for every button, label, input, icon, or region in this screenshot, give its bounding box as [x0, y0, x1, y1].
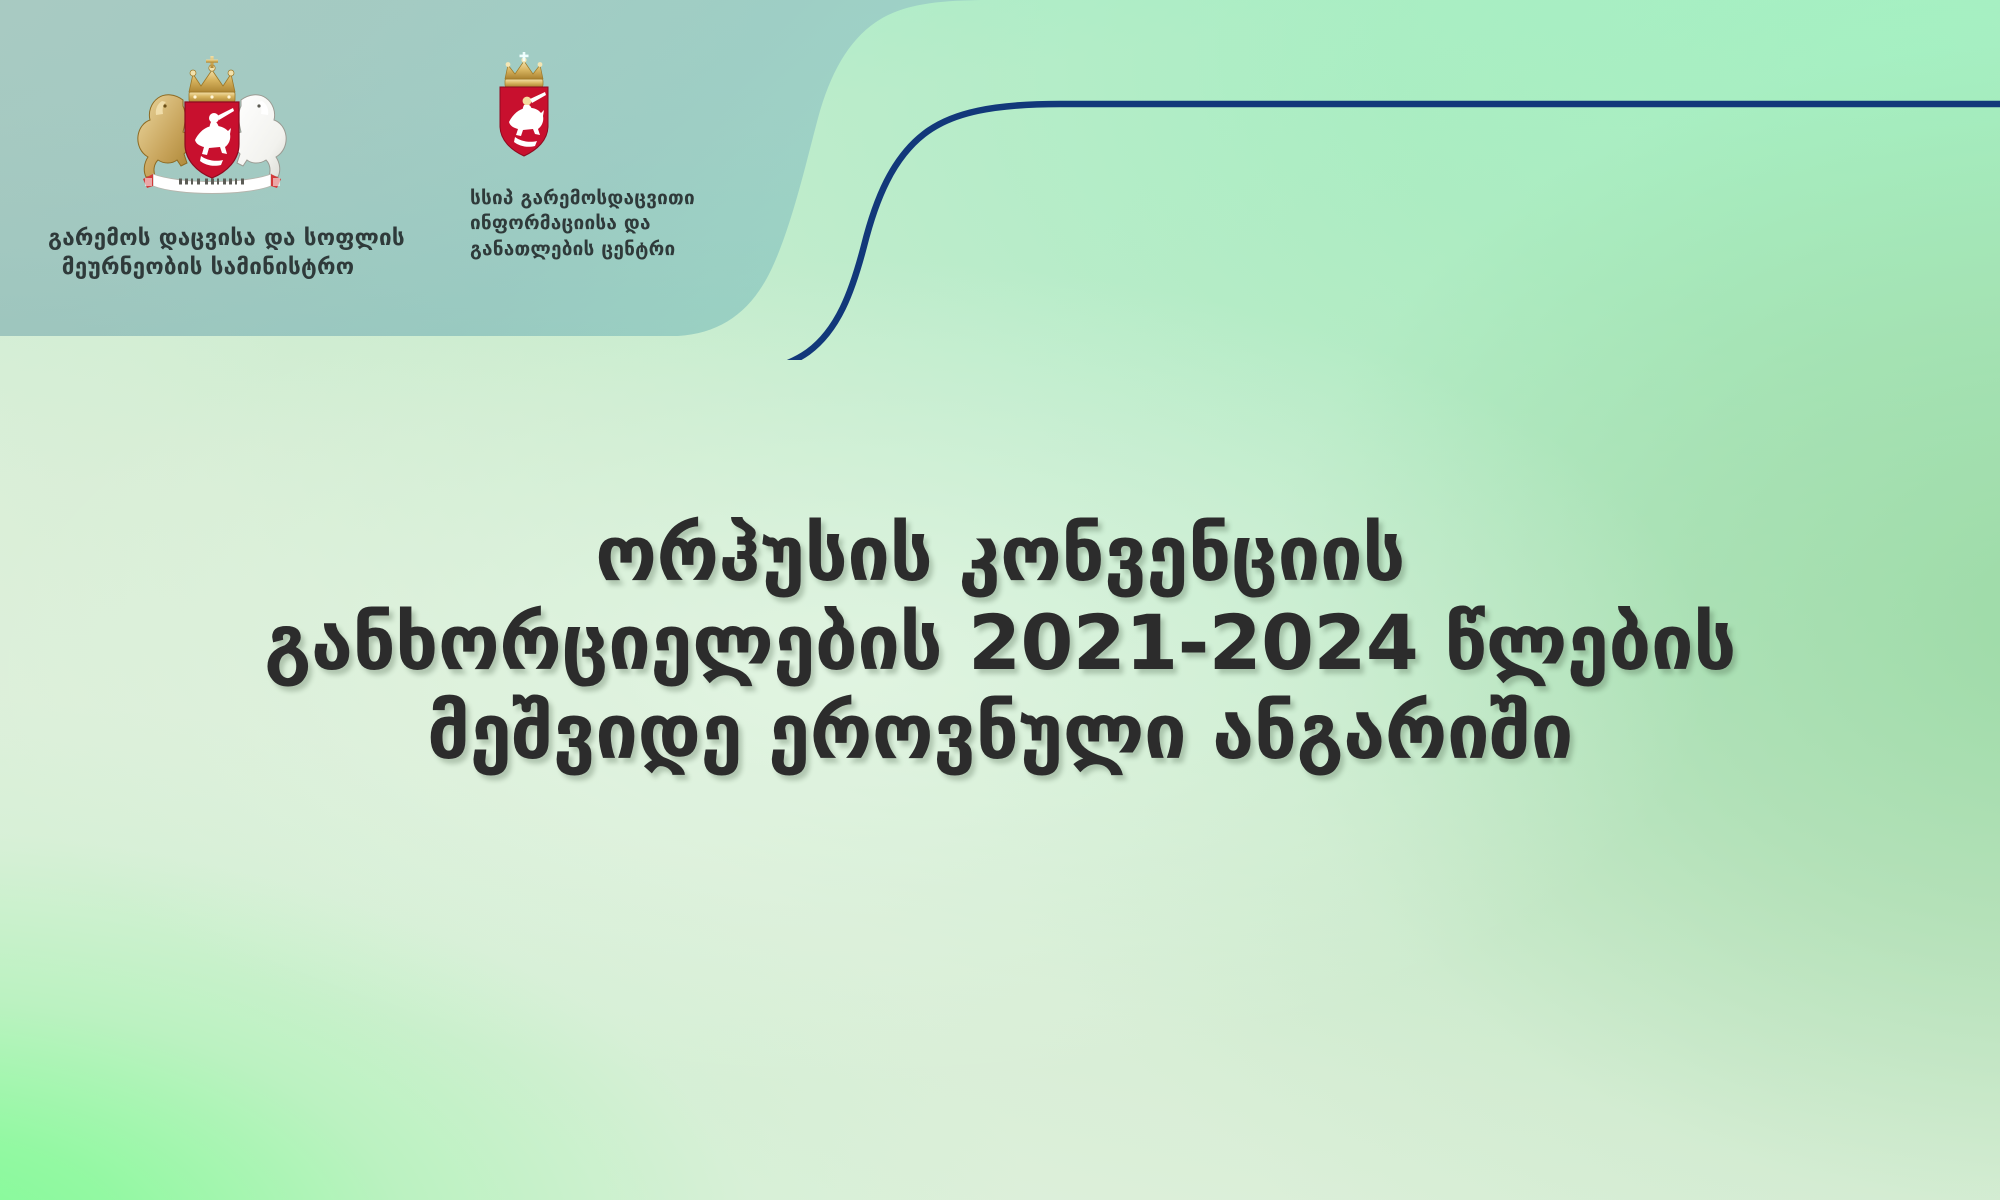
- logo-ministry-caption-line-1: გარემოს დაცვისა და სოფლის: [48, 224, 368, 253]
- logo-row: გარემოს დაცვისა და სოფლის მეურნეობის სამ…: [0, 0, 900, 340]
- logo-ministry: გარემოს დაცვისა და სოფლის მეურნეობის სამ…: [48, 48, 368, 283]
- cover-page: გარემოს დაცვისა და სოფლის მეურნეობის სამ…: [0, 0, 2000, 1200]
- page-title-line-2: განხორციელების 2021-2024 წლების: [0, 599, 2000, 688]
- georgia-shield-crest-icon: [488, 52, 560, 164]
- shield: [500, 87, 548, 156]
- shield: [185, 102, 239, 178]
- logo-eiec: სსიპ გარემოსდაცვითი ინფორმაციისა და განა…: [470, 52, 810, 262]
- logo-ministry-caption: გარემოს დაცვისა და სოფლის მეურნეობის სამ…: [48, 224, 368, 283]
- logo-ministry-caption-line-2: მეურნეობის სამინისტრო: [48, 253, 368, 282]
- logo-eiec-caption-line-1: სსიპ გარემოსდაცვითი: [470, 186, 800, 211]
- page-title-line-1: ორჰუსის კონვენციის: [0, 510, 2000, 599]
- logo-eiec-caption-line-3: განათლების ცენტრი: [470, 237, 800, 262]
- crown: [505, 52, 543, 87]
- logo-eiec-caption-line-2: ინფორმაციისა და: [470, 211, 800, 236]
- georgia-coat-of-arms-icon: [117, 48, 307, 202]
- supporter-lion: [138, 95, 190, 177]
- supporter-horse: [234, 95, 286, 177]
- logo-eiec-caption: სსიპ გარემოსდაცვითი ინფორმაციისა და განა…: [470, 186, 800, 262]
- page-title-line-3: მეშვიდე ეროვნული ანგარიში: [0, 688, 2000, 777]
- page-title: ორჰუსის კონვენციის განხორციელების 2021-2…: [0, 510, 2000, 777]
- crown: [189, 56, 235, 102]
